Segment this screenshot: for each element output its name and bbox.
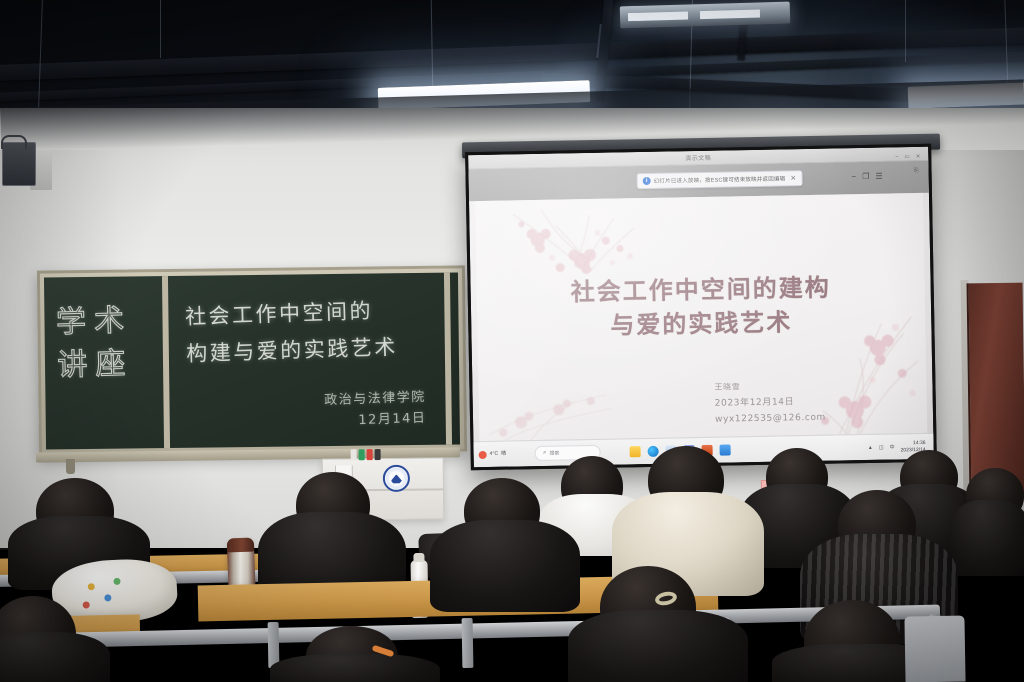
- search-icon: ⌕: [543, 450, 547, 457]
- notification-banner[interactable]: i 幻灯片已进入放映，按ESC键可结束放映并返回编辑 ✕: [637, 170, 803, 189]
- slide-title: 社会工作中空间的建构 与爱的实践艺术: [476, 269, 925, 345]
- ceiling-wire: [160, 0, 161, 58]
- display-switch-button[interactable]: ⎘: [914, 168, 919, 175]
- close-icon[interactable]: ✕: [790, 174, 796, 182]
- classroom-door: [967, 283, 1024, 496]
- marker-pens: [351, 449, 391, 460]
- mail-icon[interactable]: [720, 444, 731, 455]
- blackboard-signature: 政治与法律学院 12月14日: [324, 387, 427, 433]
- minimize-icon[interactable]: −: [895, 154, 898, 160]
- display-switch-icon: ⎘: [914, 168, 919, 175]
- presentation-window-controls: − ❐ ☰: [852, 172, 883, 182]
- minimize-icon[interactable]: −: [852, 172, 857, 181]
- blackboard-surface: 学术讲座 社会工作中空间的 构建与爱的实践艺术 政治与法律学院 12月14日: [44, 272, 460, 449]
- ime-icon[interactable]: 中: [889, 443, 894, 450]
- blackboard-signature-date: 12月14日: [325, 409, 427, 434]
- desk-rail-post: [462, 618, 474, 668]
- slide-presenter-block: 王晓雪 2023年12月14日 wyx122535@126.com: [714, 379, 826, 429]
- window-title-buttons: − ▭ ✕: [895, 154, 920, 160]
- slide-date: 2023年12月14日: [715, 394, 826, 413]
- file-explorer-icon[interactable]: [630, 446, 641, 457]
- blackboard-topic-line-2: 构建与爱的实践艺术: [185, 328, 398, 372]
- chair-back: [904, 615, 965, 682]
- search-placeholder: 搜索: [549, 450, 559, 457]
- close-icon[interactable]: ✕: [916, 154, 921, 160]
- weather-label: 晴: [501, 451, 506, 457]
- projector-screen: 演示文稿 − ▭ ✕ i 幻灯片已进入放映，按ESC键可结束放映并返回编辑 ✕ …: [465, 144, 937, 470]
- weather-widget[interactable]: 4°C 晴: [479, 450, 507, 459]
- blackboard-panel-left: 学术讲座: [44, 276, 170, 450]
- blackboard-panel-right: 社会工作中空间的 构建与爱的实践艺术 政治与法律学院 12月14日: [168, 273, 446, 448]
- blackboard-topic: 社会工作中空间的 构建与爱的实践艺术: [184, 292, 398, 372]
- weather-icon: [479, 450, 487, 458]
- plum-blossom-decoration-icon: [484, 375, 615, 441]
- maximize-icon[interactable]: ▭: [904, 154, 909, 160]
- weather-temp: 4°C: [490, 451, 499, 457]
- ceiling-wire: [905, 0, 906, 62]
- slide-title-line-2: 与爱的实践艺术: [477, 303, 926, 345]
- info-icon: i: [643, 177, 651, 185]
- restore-icon[interactable]: ❐: [862, 172, 869, 181]
- menu-icon[interactable]: ☰: [875, 172, 882, 181]
- classroom-photo: 学术讲座 社会工作中空间的 构建与爱的实践艺术 政治与法律学院 12月14日 演…: [0, 0, 1024, 682]
- wall-speaker: [2, 142, 36, 186]
- university-emblem: [383, 465, 410, 492]
- slide-canvas: 社会工作中空间的建构 与爱的实践艺术 王晓雪 2023年12月14日 wyx12…: [475, 193, 927, 441]
- blackboard-panel-far: [444, 272, 460, 444]
- volume-icon[interactable]: ◫: [879, 444, 884, 450]
- network-icon[interactable]: ▲: [868, 444, 873, 450]
- projected-desktop: 演示文稿 − ▭ ✕ i 幻灯片已进入放映，按ESC键可结束放映并返回编辑 ✕ …: [468, 147, 934, 467]
- blackboard: 学术讲座 社会工作中空间的 构建与爱的实践艺术 政治与法律学院 12月14日: [37, 265, 467, 456]
- edge-icon[interactable]: [648, 446, 659, 457]
- window-title: 演示文稿: [685, 153, 711, 162]
- notification-text: 幻灯片已进入放映，按ESC键可结束放映并返回编辑: [654, 174, 786, 184]
- blackboard-topic-line-1: 社会工作中空间的: [184, 292, 397, 336]
- blackboard-heading: 学术讲座: [55, 299, 159, 387]
- slide-email: wyx122535@126.com: [715, 410, 826, 429]
- chalk-tray-peg: [66, 459, 75, 474]
